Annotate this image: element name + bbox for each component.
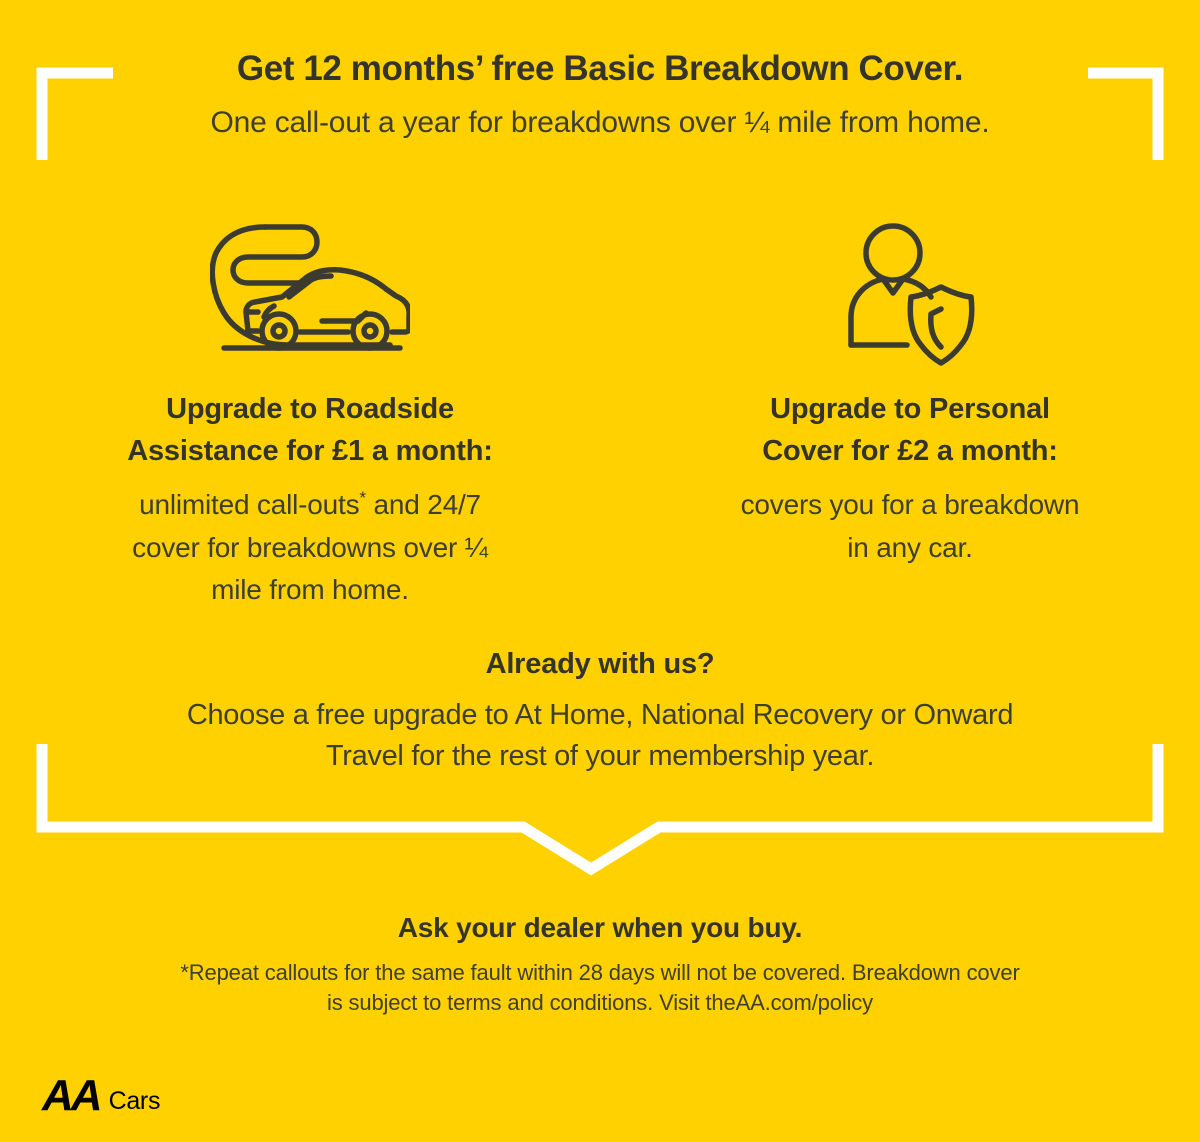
aa-cars-logo: AA Cars xyxy=(42,1076,160,1116)
promo-poster: Get 12 months’ free Basic Breakdown Cove… xyxy=(0,0,1200,1142)
car-winding-road-icon xyxy=(50,212,570,372)
aa-logo-mark: AA xyxy=(42,1076,100,1116)
feature-column-personal: Upgrade to Personal Cover for £2 a month… xyxy=(620,212,1200,569)
feature-title-personal: Upgrade to Personal Cover for £2 a month… xyxy=(660,388,1160,472)
feature-body-line1-pre: covers you for a breakdown xyxy=(741,489,1080,520)
footnote-line1: *Repeat callouts for the same fault with… xyxy=(180,960,1019,985)
feature-body-line2: cover for breakdowns over ¼ xyxy=(132,532,488,563)
feature-body-line3: mile from home. xyxy=(211,574,409,605)
feature-title-line1: Upgrade to Roadside xyxy=(166,393,454,425)
feature-body-roadside: unlimited call-outs* and 24/7 cover for … xyxy=(50,484,570,612)
already-with-us-title: Already with us? xyxy=(0,648,1200,681)
already-with-us-body: Choose a free upgrade to At Home, Nation… xyxy=(65,695,1135,777)
person-shield-icon xyxy=(660,212,1160,372)
cta-title: Ask your dealer when you buy. xyxy=(0,912,1200,944)
feature-body-personal: covers you for a breakdown in any car. xyxy=(660,484,1160,569)
legal-footnote: *Repeat callouts for the same fault with… xyxy=(80,958,1120,1019)
feature-body-line1-post: and 24/7 xyxy=(366,489,481,520)
page-headline: Get 12 months’ free Basic Breakdown Cove… xyxy=(0,48,1200,89)
feature-title-line2: Assistance for £1 a month: xyxy=(127,435,492,467)
feature-column-roadside: Upgrade to Roadside Assistance for £1 a … xyxy=(0,212,620,612)
call-to-action-section: Ask your dealer when you buy. *Repeat ca… xyxy=(0,912,1200,1019)
already-body-line2: Travel for the rest of your membership y… xyxy=(326,740,874,772)
feature-body-line2: in any car. xyxy=(847,532,972,563)
already-body-line1: Choose a free upgrade to At Home, Nation… xyxy=(187,699,1013,731)
feature-title-roadside: Upgrade to Roadside Assistance for £1 a … xyxy=(50,388,570,472)
feature-body-line1-pre: unlimited call-outs xyxy=(139,489,359,520)
feature-title-line2: Cover for £2 a month: xyxy=(762,435,1058,467)
page-subhead: One call-out a year for breakdowns over … xyxy=(0,105,1200,141)
aa-logo-wordmark: Cars xyxy=(109,1089,161,1116)
feature-columns: Upgrade to Roadside Assistance for £1 a … xyxy=(0,212,1200,612)
already-with-us-section: Already with us? Choose a free upgrade t… xyxy=(0,648,1200,777)
header: Get 12 months’ free Basic Breakdown Cove… xyxy=(0,48,1200,141)
feature-title-line1: Upgrade to Personal xyxy=(770,393,1050,425)
footnote-line2: is subject to terms and conditions. Visi… xyxy=(327,990,873,1015)
